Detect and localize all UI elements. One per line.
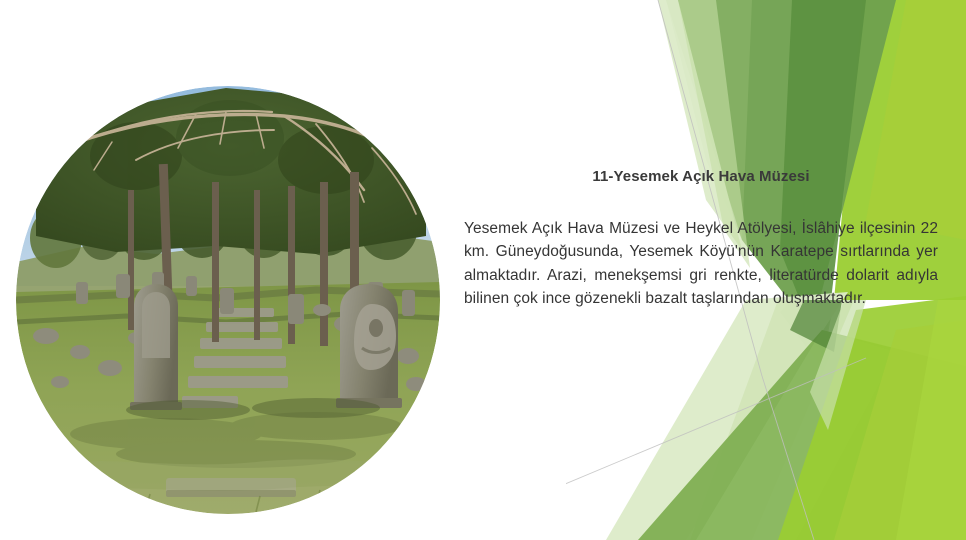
photo-frame [16,86,440,514]
photo-foreground-grass [16,459,440,514]
body-paragraph: Yesemek Açık Hava Müzesi ve Heykel Atöly… [464,217,938,311]
facet-shape-bottom-sliver [810,300,866,430]
text-content-block: 11-Yesemek Açık Hava Müzesi Yesemek Açık… [464,168,938,311]
facet-shape-bottom-pale [606,292,848,540]
hairline-diagonal-lower [762,376,814,540]
facet-shape-bottom-brightest [896,300,966,540]
page-title: 11-Yesemek Açık Hava Müzesi [464,168,938,187]
facet-shape-bottom-lime-2 [834,320,966,540]
facet-shape-bottom-pale-2 [690,300,854,540]
yesemek-open-air-museum-photo [16,86,440,514]
facet-shape-bottom-lime [778,296,966,540]
facet-shape-bottom-medium [638,330,966,540]
photo-carved-eye [369,319,383,337]
photo-sculpture-left-shadow [126,400,250,420]
hairline-shallow-diagonal [566,358,866,492]
presentation-slide: 11-Yesemek Açık Hava Müzesi Yesemek Açık… [0,0,966,540]
facet-shape-bottom-medium-light [696,330,896,540]
